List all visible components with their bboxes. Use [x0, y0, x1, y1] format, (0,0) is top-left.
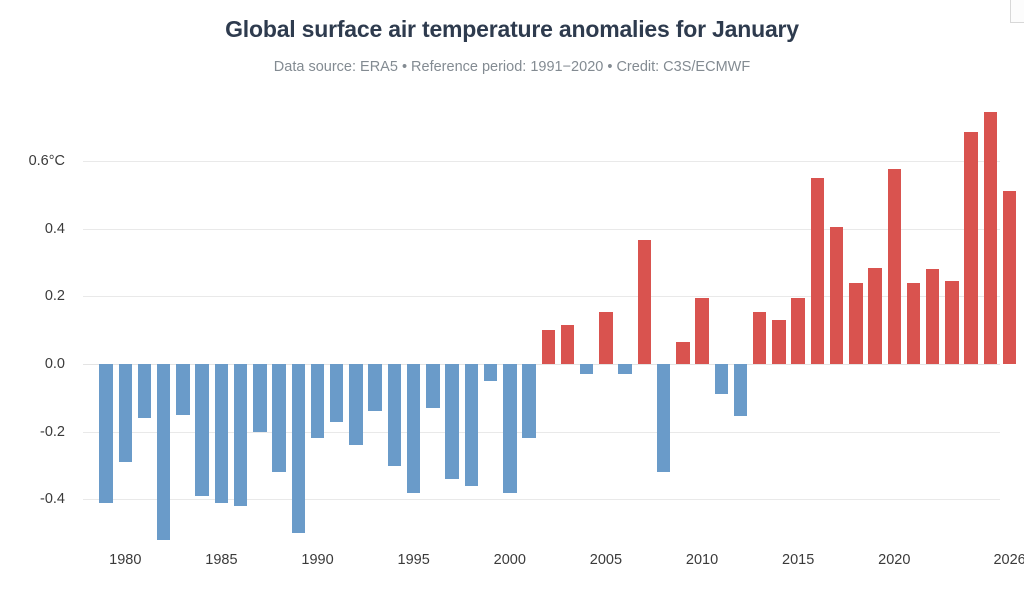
bar-2007[interactable] [638, 240, 651, 364]
bar-1994[interactable] [388, 364, 401, 466]
bar-2016[interactable] [811, 178, 824, 364]
y-axis-tick-label: 0.2 [0, 288, 65, 304]
x-axis-tick-label: 2020 [878, 552, 910, 568]
bar-1996[interactable] [426, 364, 439, 408]
bar-2005[interactable] [599, 312, 612, 364]
y-axis-tick-label: 0.0 [0, 356, 65, 372]
bar-2009[interactable] [676, 342, 689, 364]
bar-1979[interactable] [99, 364, 112, 503]
bar-1989[interactable] [292, 364, 305, 533]
bar-2013[interactable] [753, 312, 766, 364]
bar-2004[interactable] [580, 364, 593, 374]
bar-1991[interactable] [330, 364, 343, 422]
bar-1983[interactable] [176, 364, 189, 415]
bar-1995[interactable] [407, 364, 420, 493]
x-axis-labels: 1980198519901995200020052010201520202026 [0, 552, 1024, 582]
bar-2018[interactable] [849, 283, 862, 364]
x-axis-tick-label: 2015 [782, 552, 814, 568]
y-axis-tick-label: 0.4 [0, 221, 65, 237]
bar-1984[interactable] [195, 364, 208, 496]
bar-2014[interactable] [772, 320, 785, 364]
bar-2025[interactable] [984, 112, 997, 364]
bar-2015[interactable] [791, 298, 804, 364]
bar-2020[interactable] [888, 169, 901, 364]
bar-2001[interactable] [522, 364, 535, 438]
bar-1985[interactable] [215, 364, 228, 503]
bar-2011[interactable] [715, 364, 728, 394]
plot-area [83, 100, 1000, 540]
bar-2022[interactable] [926, 269, 939, 364]
bar-1981[interactable] [138, 364, 151, 418]
bar-1997[interactable] [445, 364, 458, 479]
bar-1992[interactable] [349, 364, 362, 445]
bar-1980[interactable] [119, 364, 132, 462]
gridline [83, 161, 1000, 162]
bar-1982[interactable] [157, 364, 170, 540]
y-axis-labels: 0.6°C0.40.20.0-0.2-0.4 [0, 100, 74, 540]
bar-2012[interactable] [734, 364, 747, 416]
bar-1999[interactable] [484, 364, 497, 381]
window-corner-marker [1010, 0, 1024, 23]
bar-2023[interactable] [945, 281, 958, 364]
chart-root: Global surface air temperature anomalies… [0, 0, 1024, 596]
bar-2021[interactable] [907, 283, 920, 364]
y-axis-tick-label: -0.4 [0, 491, 65, 507]
bar-2017[interactable] [830, 227, 843, 364]
y-axis-tick-label: -0.2 [0, 424, 65, 440]
bar-2002[interactable] [542, 330, 555, 364]
bar-2024[interactable] [964, 132, 977, 364]
x-axis-tick-label: 1985 [205, 552, 237, 568]
bar-2006[interactable] [618, 364, 631, 374]
x-axis-tick-label: 2026 [993, 552, 1024, 568]
bar-2000[interactable] [503, 364, 516, 493]
x-axis-tick-label: 2010 [686, 552, 718, 568]
bar-1990[interactable] [311, 364, 324, 438]
bar-2019[interactable] [868, 268, 881, 364]
x-axis-tick-label: 1980 [109, 552, 141, 568]
x-axis-tick-label: 1995 [398, 552, 430, 568]
bar-2003[interactable] [561, 325, 574, 364]
gridline [83, 229, 1000, 230]
bar-1987[interactable] [253, 364, 266, 432]
y-axis-tick-label: 0.6°C [0, 153, 65, 169]
bar-1986[interactable] [234, 364, 247, 506]
x-axis-tick-label: 2005 [590, 552, 622, 568]
bar-1998[interactable] [465, 364, 478, 486]
bar-1988[interactable] [272, 364, 285, 472]
bar-2008[interactable] [657, 364, 670, 472]
bar-2026[interactable] [1003, 191, 1016, 364]
bar-2010[interactable] [695, 298, 708, 364]
x-axis-tick-label: 2000 [494, 552, 526, 568]
chart-subtitle: Data source: ERA5 • Reference period: 19… [0, 59, 1024, 75]
page-title: Global surface air temperature anomalies… [0, 16, 1024, 43]
x-axis-tick-label: 1990 [301, 552, 333, 568]
bar-1993[interactable] [368, 364, 381, 411]
